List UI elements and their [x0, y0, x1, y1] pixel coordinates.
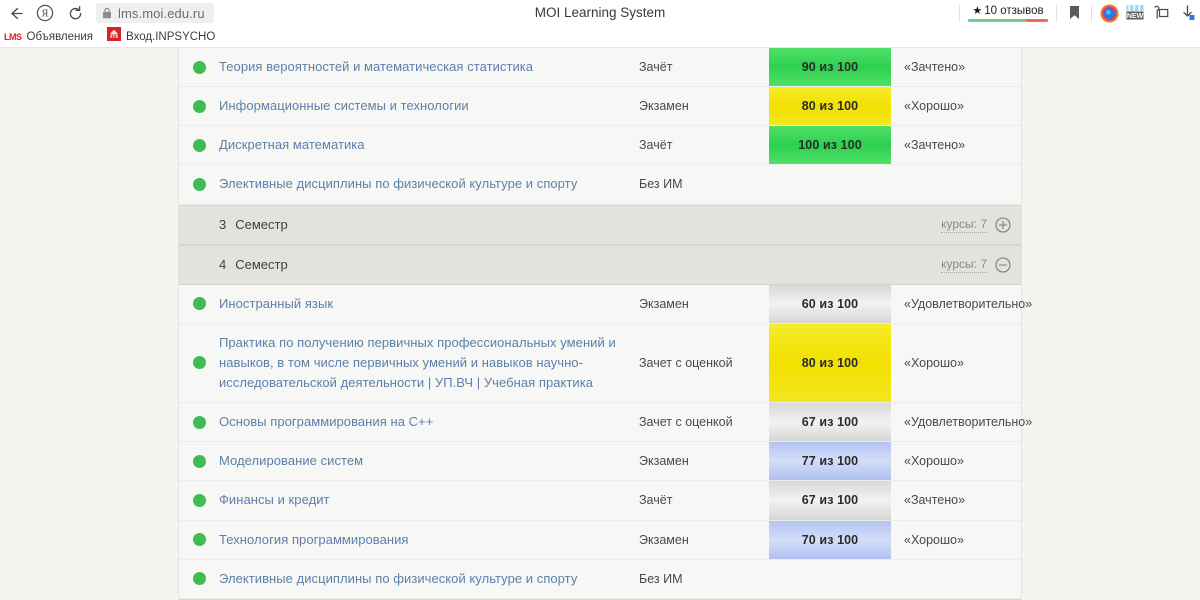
- svg-text:NEW: NEW: [1127, 13, 1144, 20]
- course-name-cell: Финансы и кредит: [219, 481, 639, 519]
- control-type-cell: Без ИМ: [639, 165, 769, 203]
- semester-number: 4: [219, 257, 226, 272]
- status-cell: [179, 403, 219, 441]
- grade-mark-cell: «Зачтено»: [891, 126, 1021, 164]
- score-badge: 60 из 100: [769, 285, 891, 323]
- semester-course-count[interactable]: курсы: 7: [941, 257, 987, 273]
- bookmark-label: Вход.INPSYCHO: [126, 31, 215, 43]
- status-dot-icon: [193, 416, 206, 429]
- status-dot-icon: [193, 61, 206, 74]
- control-type-cell: Без ИМ: [639, 560, 769, 598]
- bookmark-item-announcements[interactable]: LMS Объявления: [4, 31, 93, 43]
- grade-mark-cell: «Хорошо»: [891, 442, 1021, 480]
- score-cell: 100 из 100: [769, 126, 891, 164]
- control-type-cell: Экзамен: [639, 285, 769, 323]
- url-text: lms.moi.edu.ru: [118, 6, 205, 21]
- course-row: Технология программированияЭкзамен70 из …: [179, 521, 1021, 560]
- status-dot-icon: [193, 455, 206, 468]
- toolbar-divider: [1091, 5, 1092, 22]
- bookmark-button[interactable]: [1061, 1, 1087, 25]
- site-reviews-badge[interactable]: ★ 10 отзывов: [964, 4, 1052, 22]
- back-button[interactable]: [0, 1, 30, 25]
- status-cell: [179, 521, 219, 559]
- course-link[interactable]: Практика по получению первичных професси…: [219, 333, 627, 393]
- grade-mark-cell: «Зачтено»: [891, 48, 1021, 86]
- grade-mark-cell: «Хорошо»: [891, 87, 1021, 125]
- bookmark-label: Объявления: [27, 31, 94, 43]
- semester-number: 3: [219, 217, 226, 232]
- downloads-icon: [1179, 4, 1196, 22]
- course-row: Иностранный языкЭкзамен60 из 100«Удовлет…: [179, 285, 1021, 324]
- status-cell: [179, 442, 219, 480]
- score-cell: 67 из 100: [769, 403, 891, 441]
- semester-header-row[interactable]: 4Семестркурсы: 7: [179, 245, 1021, 285]
- toolbar-divider: [1056, 5, 1057, 22]
- course-link[interactable]: Элективные дисциплины по физической куль…: [219, 569, 577, 589]
- collapse-semester-button[interactable]: [994, 256, 1011, 273]
- back-arrow-icon: [7, 5, 24, 22]
- course-row: Дискретная математикаЗачёт100 из 100«Зач…: [179, 126, 1021, 165]
- status-cell: [179, 165, 219, 203]
- course-name-cell: Основы программирования на С++: [219, 403, 639, 441]
- control-type-cell: Зачет с оценкой: [639, 403, 769, 441]
- score-cell: 80 из 100: [769, 87, 891, 125]
- score-badge: 90 из 100: [769, 48, 891, 86]
- profile-avatar-icon: [1100, 4, 1119, 23]
- course-name-cell: Моделирование систем: [219, 442, 639, 480]
- status-dot-icon: [193, 356, 206, 369]
- bookmark-item-inpsycho[interactable]: Вход.INPSYCHO: [107, 27, 215, 46]
- course-link[interactable]: Теория вероятностей и математическая ста…: [219, 57, 533, 77]
- status-dot-icon: [193, 100, 206, 113]
- reload-button[interactable]: [60, 1, 90, 25]
- status-dot-icon: [193, 297, 206, 310]
- score-badge: 80 из 100: [769, 87, 891, 125]
- yandex-logo-icon: Я: [36, 4, 54, 22]
- status-cell: [179, 285, 219, 323]
- course-name-cell: Теория вероятностей и математическая ста…: [219, 48, 639, 86]
- course-name-cell: Дискретная математика: [219, 126, 639, 164]
- score-badge: 67 из 100: [769, 403, 891, 441]
- score-cell: 70 из 100: [769, 521, 891, 559]
- grade-mark-cell: [891, 560, 1021, 598]
- course-row: Элективные дисциплины по физической куль…: [179, 560, 1021, 599]
- score-cell: [769, 165, 891, 203]
- grade-mark-cell: «Зачтено»: [891, 481, 1021, 519]
- new-badge-icon: NEW: [1125, 4, 1145, 22]
- course-row: Элективные дисциплины по физической куль…: [179, 165, 1021, 204]
- grade-mark-cell: [891, 165, 1021, 203]
- semester-header-row[interactable]: 3Семестркурсы: 7: [179, 205, 1021, 245]
- bookmark-icon: [1068, 5, 1081, 21]
- score-cell: 60 из 100: [769, 285, 891, 323]
- lock-icon: [102, 7, 112, 19]
- status-cell: [179, 560, 219, 598]
- course-row: Основы программирования на С++Зачет с оц…: [179, 403, 1021, 442]
- course-row: Теория вероятностей и математическая ста…: [179, 48, 1021, 87]
- score-badge: 70 из 100: [769, 521, 891, 559]
- downloads-button[interactable]: [1174, 1, 1200, 25]
- status-cell: [179, 48, 219, 86]
- status-cell: [179, 126, 219, 164]
- collections-icon: [1152, 4, 1171, 22]
- course-link[interactable]: Иностранный язык: [219, 294, 333, 314]
- course-link[interactable]: Информационные системы и технологии: [219, 96, 469, 116]
- star-icon: ★: [972, 4, 982, 17]
- svg-text:Я: Я: [42, 9, 49, 20]
- score-badge: 67 из 100: [769, 481, 891, 519]
- score-badge: 77 из 100: [769, 442, 891, 480]
- control-type-cell: Зачёт: [639, 481, 769, 519]
- control-type-cell: Зачёт: [639, 126, 769, 164]
- review-rating-bar: [968, 19, 1048, 22]
- score-cell: 90 из 100: [769, 48, 891, 86]
- semester-label: Семестр: [235, 257, 287, 272]
- course-link[interactable]: Моделирование систем: [219, 451, 363, 471]
- status-dot-icon: [193, 572, 206, 585]
- control-type-cell: Зачёт: [639, 48, 769, 86]
- course-name-cell: Элективные дисциплины по физической куль…: [219, 165, 639, 203]
- curriculum-table: Теория вероятностей и математическая ста…: [178, 48, 1022, 600]
- grade-mark-cell: «Удовлетворительно»: [891, 285, 1032, 323]
- new-tab-extension-button[interactable]: NEW: [1122, 1, 1148, 25]
- score-cell: 67 из 100: [769, 481, 891, 519]
- grade-mark-cell: «Удовлетворительно»: [891, 403, 1032, 441]
- course-name-cell: Технология программирования: [219, 521, 639, 559]
- score-cell: 80 из 100: [769, 324, 891, 402]
- semester-course-count[interactable]: курсы: 7: [941, 217, 987, 233]
- lms-favicon: LMS: [4, 32, 22, 42]
- expand-semester-button[interactable]: [994, 216, 1011, 233]
- address-bar[interactable]: lms.moi.edu.ru: [96, 3, 214, 23]
- grade-mark-cell: «Хорошо»: [891, 521, 1021, 559]
- reload-icon: [67, 5, 84, 22]
- score-cell: [769, 560, 891, 598]
- collections-button[interactable]: [1148, 1, 1174, 25]
- course-link[interactable]: Основы программирования на С++: [219, 412, 433, 432]
- plus-circle-icon: [995, 217, 1011, 233]
- status-dot-icon: [193, 533, 206, 546]
- semester-label: Семестр: [235, 217, 287, 232]
- screen: Я lms.moi.edu.ru MOI Learning System: [0, 0, 1200, 600]
- control-type-cell: Зачет с оценкой: [639, 324, 769, 402]
- page-content: Теория вероятностей и математическая ста…: [0, 48, 1200, 600]
- course-name-cell: Информационные системы и технологии: [219, 87, 639, 125]
- browser-toolbar-right: ★ 10 отзывов: [955, 0, 1200, 26]
- course-link[interactable]: Технология программирования: [219, 530, 409, 550]
- course-row: Моделирование системЭкзамен77 из 100«Хор…: [179, 442, 1021, 481]
- course-name-cell: Практика по получению первичных професси…: [219, 324, 639, 402]
- bookmarks-bar: LMS Объявления Вход.INPSYCHO: [0, 26, 1200, 48]
- status-cell: [179, 481, 219, 519]
- yandex-home-button[interactable]: Я: [30, 1, 60, 25]
- course-row: Финансы и кредитЗачёт67 из 100«Зачтено»: [179, 481, 1021, 520]
- score-badge: [769, 165, 891, 203]
- score-badge: 80 из 100: [769, 324, 891, 402]
- inpsycho-favicon: [107, 27, 121, 46]
- semester-controls: курсы: 7: [941, 216, 1011, 233]
- course-name-cell: Элективные дисциплины по физической куль…: [219, 560, 639, 598]
- control-type-cell: Экзамен: [639, 87, 769, 125]
- status-cell: [179, 87, 219, 125]
- grade-mark-cell: «Хорошо»: [891, 324, 1021, 402]
- course-row: Практика по получению первичных професси…: [179, 324, 1021, 403]
- course-link[interactable]: Финансы и кредит: [219, 490, 330, 510]
- score-cell: 77 из 100: [769, 442, 891, 480]
- control-type-cell: Экзамен: [639, 442, 769, 480]
- status-dot-icon: [193, 494, 206, 507]
- toolbar-divider: [959, 5, 960, 22]
- score-badge: [769, 560, 891, 598]
- profile-button[interactable]: [1096, 1, 1122, 25]
- control-type-cell: Экзамен: [639, 521, 769, 559]
- minus-circle-icon: [995, 257, 1011, 273]
- score-badge: 100 из 100: [769, 126, 891, 164]
- course-row: Информационные системы и технологииЭкзам…: [179, 87, 1021, 126]
- semester-controls: курсы: 7: [941, 256, 1011, 273]
- status-dot-icon: [193, 178, 206, 191]
- course-link[interactable]: Элективные дисциплины по физической куль…: [219, 174, 577, 194]
- course-link[interactable]: Дискретная математика: [219, 135, 365, 155]
- status-dot-icon: [193, 139, 206, 152]
- status-cell: [179, 324, 219, 402]
- review-count-label: 10 отзывов: [984, 5, 1043, 17]
- course-name-cell: Иностранный язык: [219, 285, 639, 323]
